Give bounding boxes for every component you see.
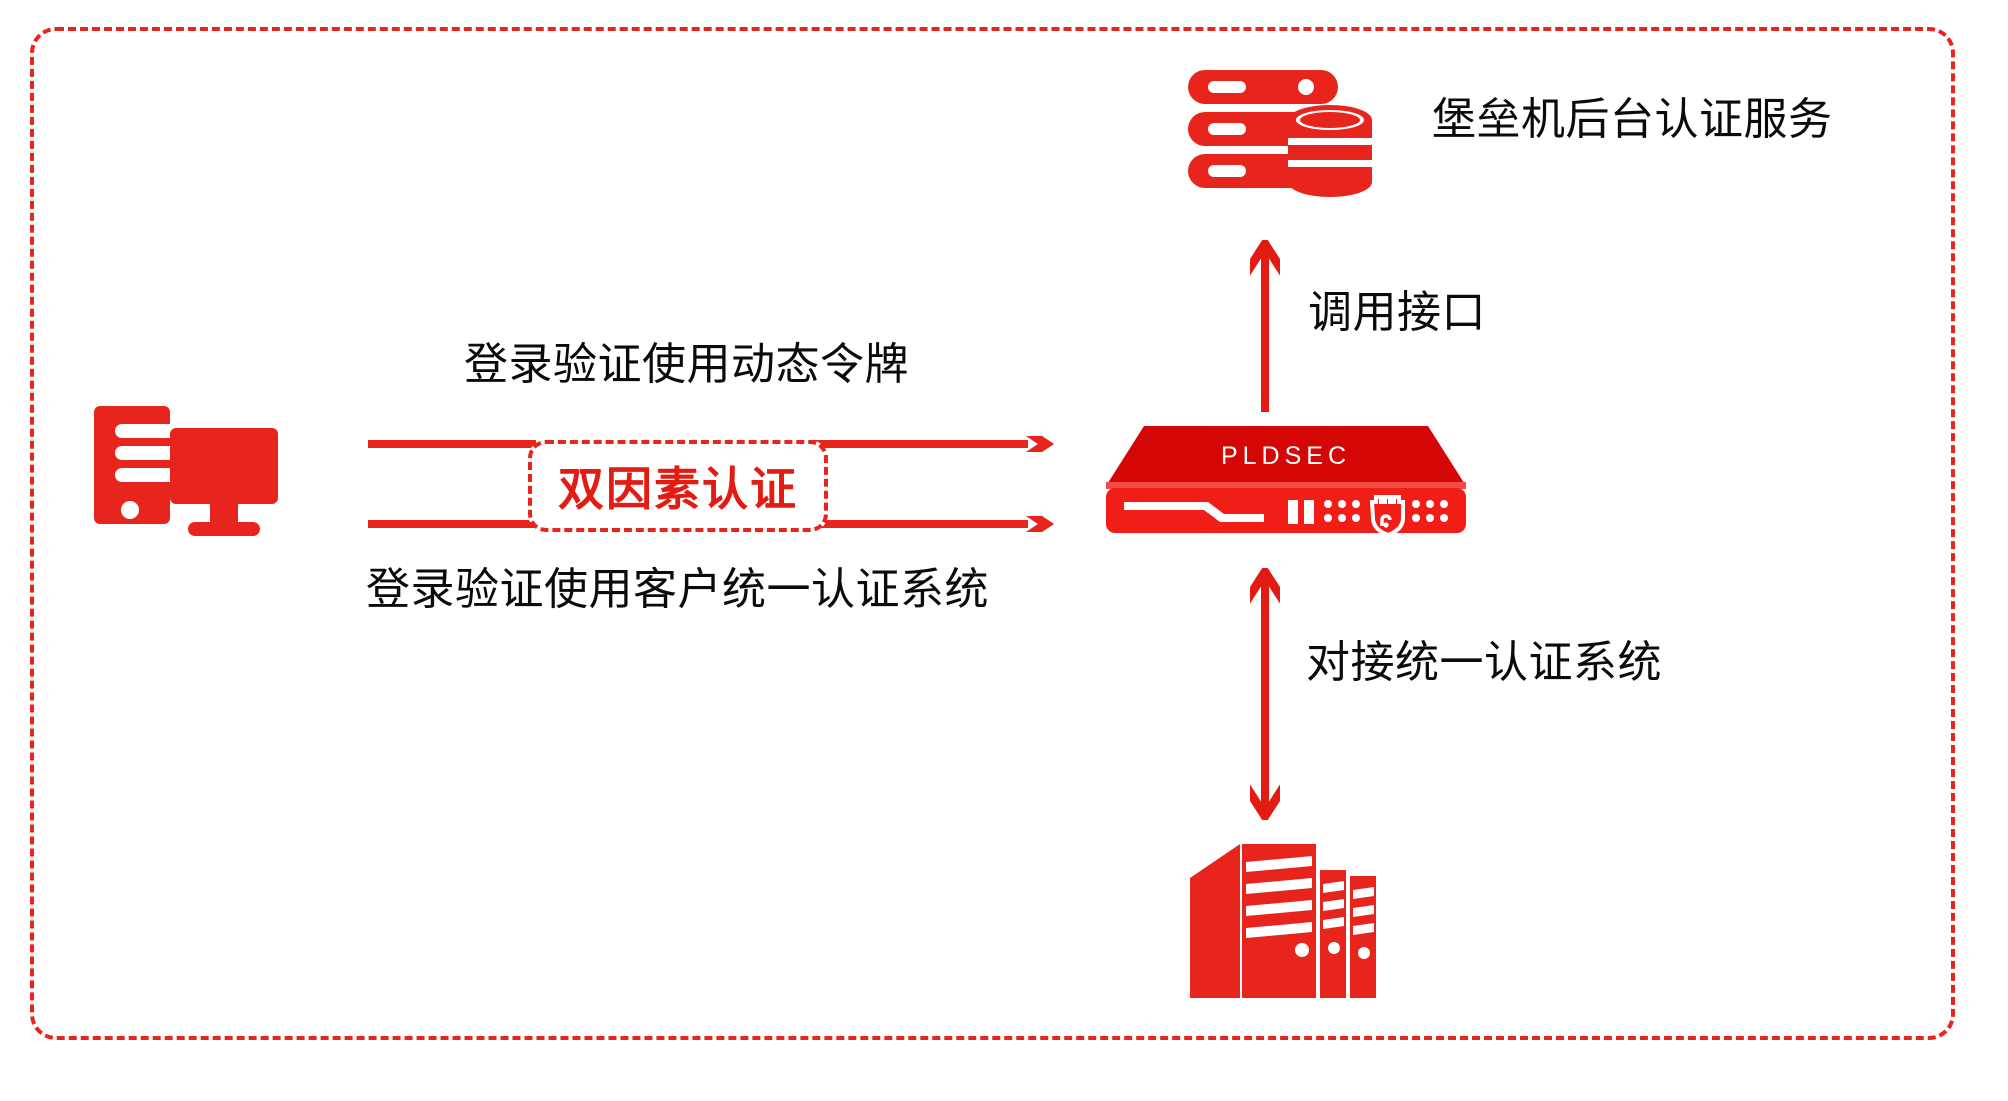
diagram-boundary (30, 27, 1955, 1040)
diagram-canvas: 登录验证使用动态令牌 登录验证使用客户统一认证系统 双因素认证 (0, 0, 2008, 1101)
server-database-icon (1184, 68, 1384, 198)
two-factor-auth-chip[interactable]: 双因素认证 (528, 440, 828, 532)
connection-label-login-sso: 登录验证使用客户统一认证系统 (366, 565, 989, 616)
arrow-sso-integration (1250, 568, 1280, 820)
client-computer-node[interactable] (88, 398, 288, 558)
arrow-call-api (1250, 240, 1280, 412)
auth-service-label: 堡垒机后台认证服务 (1432, 95, 1833, 146)
auth-service-node[interactable] (1184, 68, 1384, 198)
connection-label-login-otp: 登录验证使用动态令牌 (464, 340, 909, 391)
server-rack-icon (1184, 838, 1384, 1003)
unified-auth-node[interactable] (1184, 838, 1384, 1003)
desktop-computer-icon (88, 398, 288, 558)
arrow-up-down-icon (1250, 568, 1280, 820)
arrow-up-icon (1250, 240, 1280, 412)
connection-label-sso-integration: 对接统一认证系统 (1306, 638, 1662, 689)
connection-label-call-api: 调用接口 (1308, 288, 1486, 339)
database-cylinder (1288, 105, 1372, 197)
two-factor-auth-chip-label: 双因素认证 (558, 453, 798, 519)
security-appliance-node[interactable]: PLDSEC (1098, 424, 1474, 539)
security-appliance-icon (1098, 424, 1474, 539)
